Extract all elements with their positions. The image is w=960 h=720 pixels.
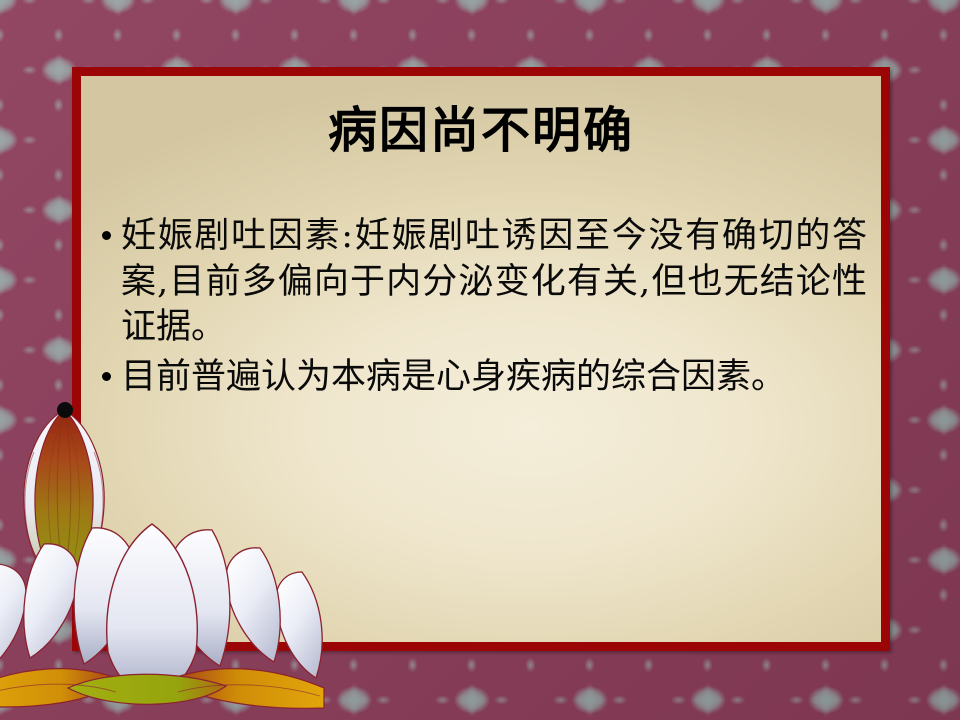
- bullet-list: 妊娠剧吐因素:妊娠剧吐诱因至今没有确切的答案,目前多偏向于内分泌变化有关,但也无…: [91, 214, 867, 404]
- list-item-text: 妊娠剧吐因素:妊娠剧吐诱因至今没有确切的答案,目前多偏向于内分泌变化有关,但也无…: [121, 214, 867, 351]
- content-panel: 病因尚不明确 妊娠剧吐因素:妊娠剧吐诱因至今没有确切的答案,目前多偏向于内分泌变…: [81, 76, 881, 642]
- content-panel-border: 病因尚不明确 妊娠剧吐因素:妊娠剧吐诱因至今没有确切的答案,目前多偏向于内分泌变…: [72, 67, 890, 651]
- list-item-text: 目前普遍认为本病是心身疾病的综合因素。: [121, 355, 867, 401]
- bullet-dot-icon: [91, 355, 121, 381]
- list-item: 妊娠剧吐因素:妊娠剧吐诱因至今没有确切的答案,目前多偏向于内分泌变化有关,但也无…: [91, 214, 867, 351]
- bullet-dot-icon: [91, 214, 121, 240]
- presentation-slide: 病因尚不明确 妊娠剧吐因素:妊娠剧吐诱因至今没有确切的答案,目前多偏向于内分泌变…: [0, 0, 960, 720]
- page-title: 病因尚不明确: [81, 102, 881, 160]
- list-item: 目前普遍认为本病是心身疾病的综合因素。: [91, 355, 867, 401]
